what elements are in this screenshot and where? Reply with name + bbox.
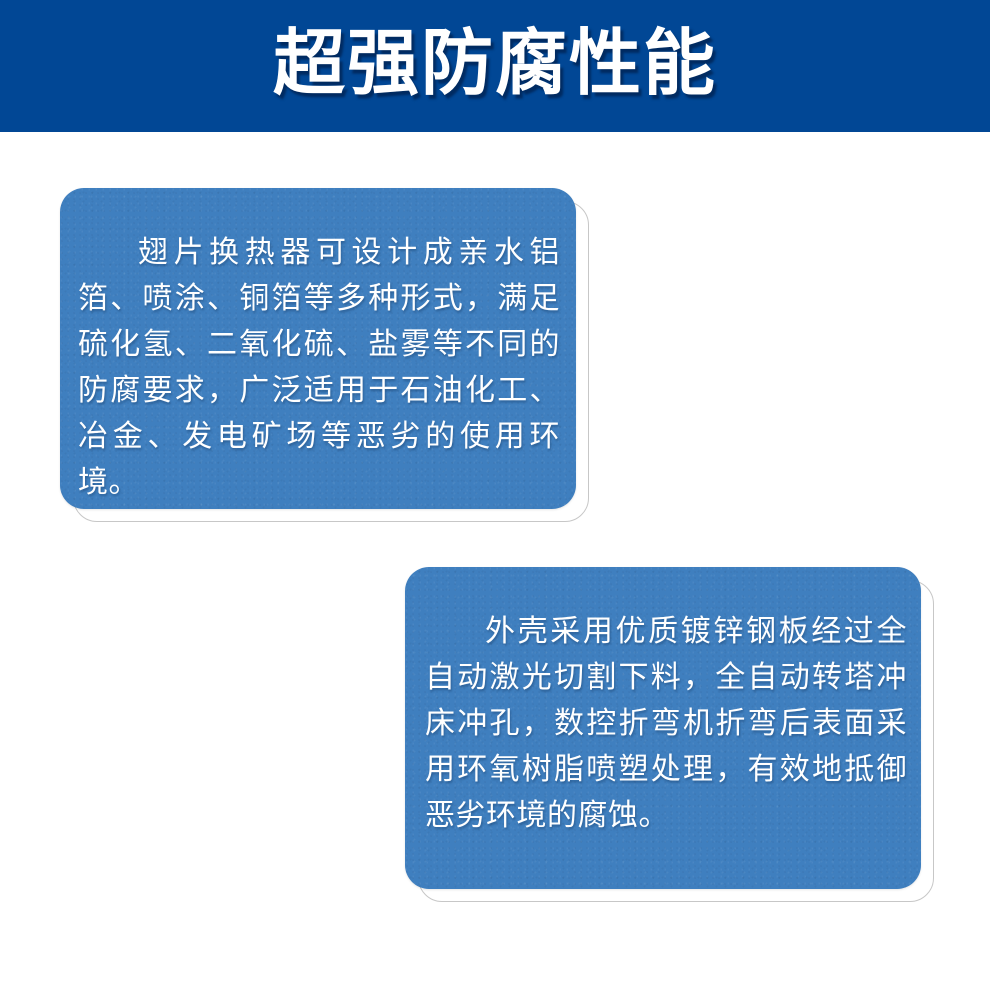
- page-title: 超强防腐性能: [0, 0, 990, 132]
- info-card-housing-process: 外壳采用优质镀锌钢板经过全自动激光切割下料，全自动转塔冲床冲孔，数控折弯机折弯后…: [405, 567, 921, 889]
- page-header-band: 超强防腐性能: [0, 0, 990, 132]
- card-body-text: 翅片换热器可设计成亲水铝箔、喷涂、铜箔等多种形式，满足硫化氢、二氧化硫、盐雾等不…: [78, 230, 560, 506]
- card-body-panel: 外壳采用优质镀锌钢板经过全自动激光切割下料，全自动转塔冲床冲孔，数控折弯机折弯后…: [405, 567, 921, 889]
- info-card-corrosion-resistance: 翅片换热器可设计成亲水铝箔、喷涂、铜箔等多种形式，满足硫化氢、二氧化硫、盐雾等不…: [60, 188, 576, 509]
- card-body-text: 外壳采用优质镀锌钢板经过全自动激光切割下料，全自动转塔冲床冲孔，数控折弯机折弯后…: [425, 609, 907, 839]
- promo-page: { "header": { "title": "超强防腐性能", "backgr…: [0, 0, 990, 996]
- card-body-panel: 翅片换热器可设计成亲水铝箔、喷涂、铜箔等多种形式，满足硫化氢、二氧化硫、盐雾等不…: [60, 188, 576, 509]
